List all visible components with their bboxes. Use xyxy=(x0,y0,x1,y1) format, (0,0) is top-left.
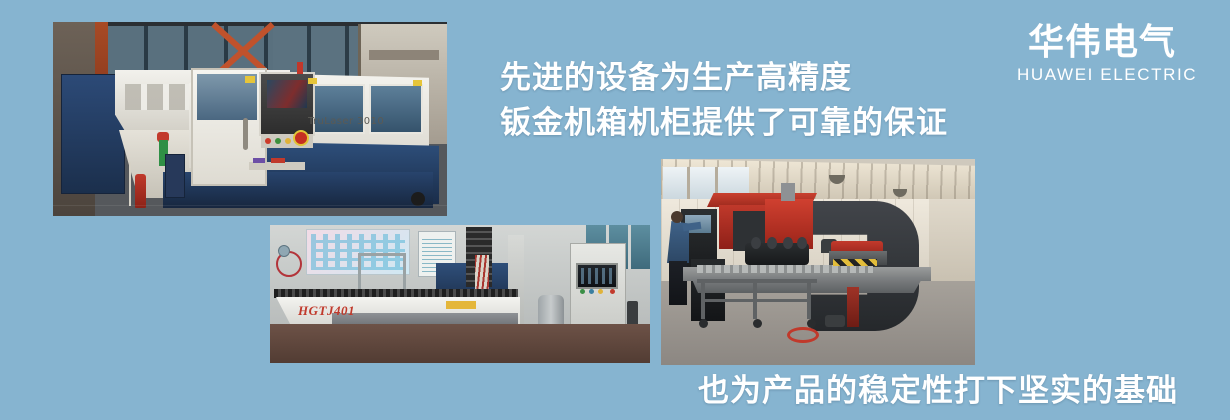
cabinet-buttons xyxy=(580,289,620,296)
hydraulic-jack xyxy=(847,287,859,327)
machine-model-label-trulaser: TruLaser 3010 xyxy=(308,116,384,127)
hazard-stripe-marking xyxy=(833,259,877,266)
warning-sticker xyxy=(245,76,255,83)
warning-sticker xyxy=(308,78,317,84)
warning-sticker xyxy=(446,301,476,309)
tool-turret xyxy=(745,243,809,265)
pendant-control xyxy=(627,301,638,327)
roller-trolley xyxy=(697,279,817,323)
punch-press-scene xyxy=(661,159,975,365)
logo-english-name: HUAWEI ELECTRIC xyxy=(1017,65,1187,85)
laser-electrical-box xyxy=(165,154,185,198)
machine-wheel xyxy=(411,192,425,206)
company-logo: 华伟电气 HUAWEI ELECTRIC xyxy=(1017,24,1187,85)
headline-line-1: 先进的设备为生产高精度 xyxy=(500,56,1000,101)
signal-tower-icon xyxy=(297,62,303,74)
tool-tray xyxy=(249,162,305,170)
sheet-metal-blank xyxy=(697,265,873,273)
operator-head xyxy=(671,211,683,223)
photo-laser-cutting-machine: TruLaser 3010 xyxy=(53,22,447,216)
photo-cnc-cutting-machine: HGTJ401 xyxy=(270,225,650,363)
cutting-machine-scene: HGTJ401 xyxy=(270,225,650,363)
emergency-stop-icon xyxy=(293,130,309,146)
cnc-screen xyxy=(576,263,618,289)
banner-subline: 也为产品的稳定性打下坚实的基础 xyxy=(698,371,1178,411)
laser-control-panel xyxy=(259,72,315,136)
machine-model-label-hgtj401: HGTJ401 xyxy=(298,303,355,319)
banner-headline: 先进的设备为生产高精度 钣金机箱机柜提供了可靠的保证 xyxy=(500,56,1000,146)
power-cable xyxy=(129,162,131,206)
laser-machine-scene: TruLaser 3010 xyxy=(53,22,447,216)
fire-extinguisher-icon xyxy=(135,174,146,208)
warning-sticker xyxy=(413,80,422,86)
foot-pedal xyxy=(825,315,845,327)
promotional-banner: TruLaser 3010 xyxy=(0,0,1230,420)
trolley-caster xyxy=(753,319,762,328)
cutting-bed-slats xyxy=(274,289,518,298)
headline-line-2: 钣金机箱机柜提供了可靠的保证 xyxy=(500,101,1000,146)
pressure-gauge-icon xyxy=(278,245,290,257)
coiled-cord xyxy=(787,327,819,343)
punch-ram xyxy=(781,183,795,201)
workshop-floor xyxy=(270,324,650,363)
laser-door-handle xyxy=(243,118,248,150)
logo-chinese-name: 华伟电气 xyxy=(1017,24,1187,62)
photo-turret-punch-press xyxy=(661,159,975,365)
trolley-caster xyxy=(699,319,708,328)
floor-line xyxy=(53,205,447,206)
